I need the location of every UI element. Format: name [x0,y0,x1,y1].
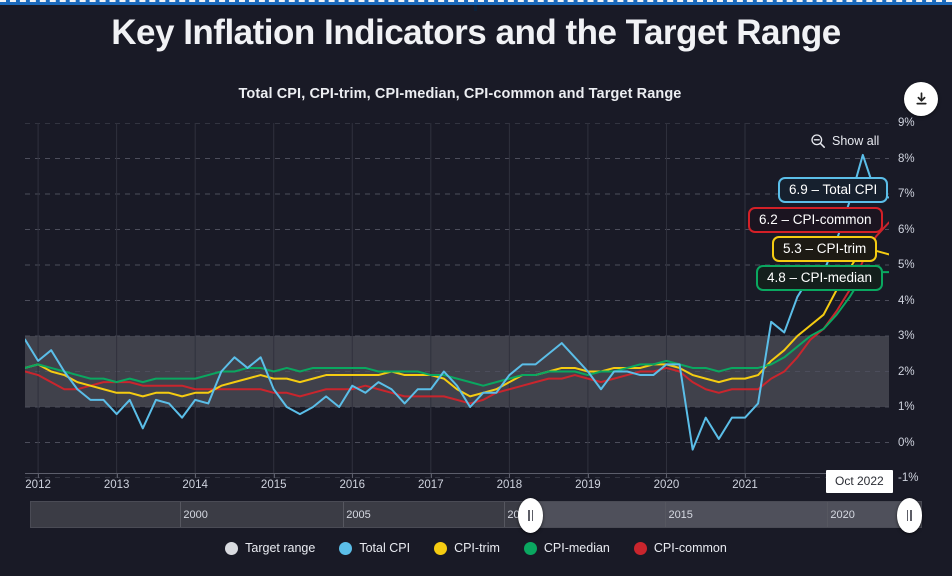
x-axis-tick-mark [431,473,432,478]
y-axis-tick: 7% [898,188,915,200]
x-axis-tick-mark [745,473,746,478]
x-axis-tick: 2014 [182,479,208,491]
x-axis-tick: 2017 [418,479,444,491]
legend-swatch-icon [634,542,647,555]
series-cpi-common [25,222,889,403]
show-all-button[interactable]: Show all [810,133,879,149]
x-axis-tick-mark [509,473,510,478]
range-navigator[interactable]: 20002005201020152020 [30,501,922,528]
y-axis-tick: 9% [898,117,915,129]
callout-cpi-median[interactable]: 4.8 – CPI-median [756,265,883,291]
series-lines [25,123,889,478]
legend-swatch-icon [225,542,238,555]
y-axis-tick: 8% [898,153,915,165]
x-axis-tick: 2012 [25,479,51,491]
x-axis-line [25,473,889,474]
navigator-tick-label: 2020 [830,509,854,521]
navigator-gridline [504,502,505,527]
page-title: Key Inflation Indicators and the Target … [12,12,940,54]
x-axis-tick-mark [38,473,39,478]
navigator-gridline [827,502,828,527]
x-axis-tick: 2016 [339,479,365,491]
series-total-cpi [25,155,889,450]
legend-item-target-range[interactable]: Target range [225,541,315,555]
legend-item-total-cpi[interactable]: Total CPI [339,541,410,555]
legend-label: Total CPI [359,541,410,555]
x-axis-tick-mark [195,473,196,478]
y-axis-tick: 6% [898,224,915,236]
navigator-gridline [180,502,181,527]
legend-swatch-icon [339,542,352,555]
x-axis-tick: 2019 [575,479,601,491]
y-axis-tick: 5% [898,259,915,271]
zoom-out-icon [810,133,826,149]
legend-label: CPI-common [654,541,727,555]
top-strip-tick [474,5,477,11]
y-axis-tick: 4% [898,295,915,307]
x-axis-tick: 2020 [654,479,680,491]
chart-container [0,118,952,490]
legend-label: CPI-trim [454,541,500,555]
download-button[interactable] [904,82,938,116]
chart-subtitle: Total CPI, CPI-trim, CPI-median, CPI-com… [0,86,920,102]
y-axis-tick: 3% [898,330,915,342]
navigator-gridline [343,502,344,527]
legend-swatch-icon [524,542,537,555]
legend-item-cpi-median[interactable]: CPI-median [524,541,610,555]
legend-label: Target range [245,541,315,555]
y-axis-tick: 1% [898,401,915,413]
chart-legend: Target rangeTotal CPICPI-trimCPI-medianC… [0,541,952,555]
legend-item-cpi-trim[interactable]: CPI-trim [434,541,500,555]
navigator-gridline [665,502,666,527]
navigator-tick-label: 2005 [346,509,370,521]
show-all-label: Show all [832,134,879,148]
y-axis-tick: -1% [898,472,918,484]
date-badge: Oct 2022 [826,470,893,493]
x-axis-tick: 2015 [261,479,287,491]
callout-cpi-common[interactable]: 6.2 – CPI-common [748,207,883,233]
callout-cpi-trim[interactable]: 5.3 – CPI-trim [772,236,877,262]
download-icon [913,91,930,108]
chart-page: Key Inflation Indicators and the Target … [0,0,952,576]
x-axis-tick-mark [117,473,118,478]
y-axis-tick: 2% [898,366,915,378]
legend-label: CPI-median [544,541,610,555]
x-axis-tick-mark [666,473,667,478]
x-axis-tick-mark [588,473,589,478]
top-selection-strip [0,0,952,5]
legend-swatch-icon [434,542,447,555]
right-range-handle[interactable] [897,498,922,533]
navigator-tick-label: 2015 [668,509,692,521]
x-axis-tick: 2013 [104,479,130,491]
x-axis-tick-mark [274,473,275,478]
left-range-handle[interactable] [518,498,543,533]
plot-area[interactable] [25,123,889,478]
x-axis-tick: 2021 [732,479,758,491]
x-axis-tick-mark [352,473,353,478]
legend-item-cpi-common[interactable]: CPI-common [634,541,727,555]
y-axis-tick: 0% [898,437,915,449]
x-axis-tick: 2018 [497,479,523,491]
navigator-tick-label: 2000 [183,509,207,521]
callout-total-cpi[interactable]: 6.9 – Total CPI [778,177,888,203]
